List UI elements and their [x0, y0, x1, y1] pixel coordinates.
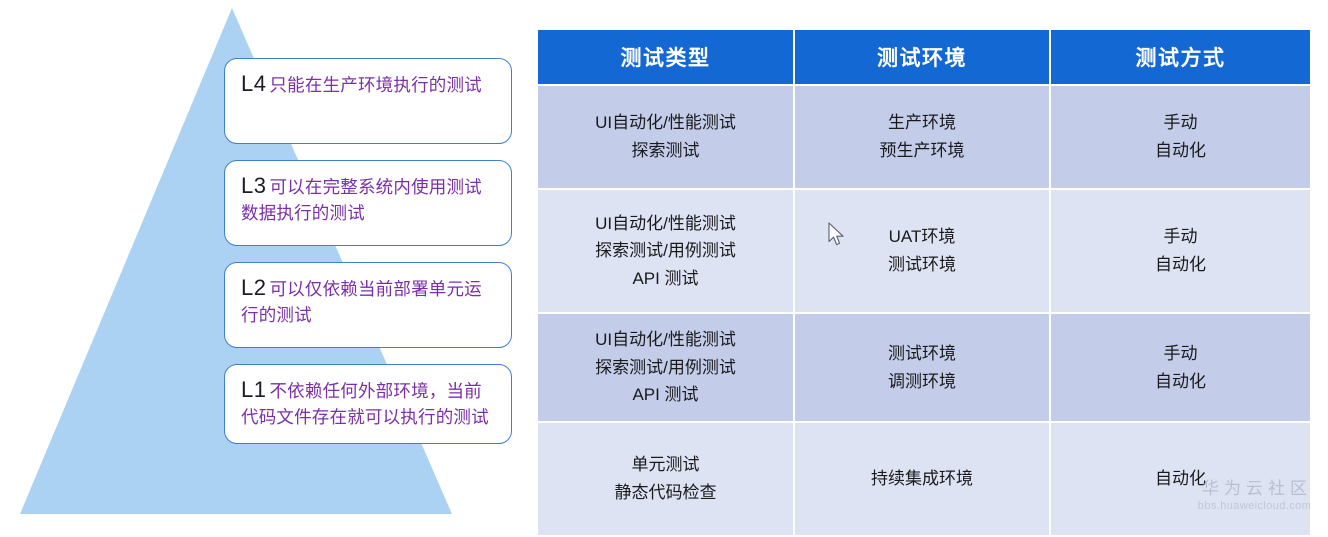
column-header-test-env[interactable]: 测试环境 — [795, 30, 1049, 84]
table-row[interactable]: UI自动化/性能测试 探索测试 生产环境 预生产环境 手动 自动化 — [538, 86, 1310, 188]
pyramid-level-l2-tag: L2 — [241, 275, 269, 300]
pyramid-level-l1-tag: L1 — [241, 377, 269, 402]
cell-line: 测试环境 — [799, 251, 1045, 279]
pyramid-level-l3[interactable]: L3可以在完整系统内使用测试数据执行的测试 — [224, 160, 512, 246]
column-header-test-method[interactable]: 测试方式 — [1051, 30, 1310, 84]
pyramid-level-l4-desc: 只能在生产环境执行的测试 — [269, 75, 481, 95]
cell-line: 手动 — [1055, 340, 1306, 368]
cell-line: 手动 — [1055, 109, 1306, 137]
cell-line: 自动化 — [1055, 137, 1306, 165]
cell-line: 预生产环境 — [799, 137, 1045, 165]
cell-line: 生产环境 — [799, 109, 1045, 137]
pyramid-level-l3-tag: L3 — [241, 173, 269, 198]
table-row[interactable]: UI自动化/性能测试 探索测试/用例测试 API 测试 UAT环境 测试环境 手… — [538, 190, 1310, 312]
pyramid-level-l4[interactable]: L4只能在生产环境执行的测试 — [224, 58, 512, 144]
table-row[interactable]: UI自动化/性能测试 探索测试/用例测试 API 测试 测试环境 调测环境 手动… — [538, 314, 1310, 421]
cell-line: API 测试 — [542, 381, 789, 409]
cell-test-env: 生产环境 预生产环境 — [795, 86, 1049, 188]
cell-line: 探索测试/用例测试 — [542, 237, 789, 265]
cell-line: UAT环境 — [799, 223, 1045, 251]
cell-line: 探索测试/用例测试 — [542, 354, 789, 382]
cell-test-type: UI自动化/性能测试 探索测试 — [538, 86, 793, 188]
test-pyramid-panel: L4只能在生产环境执行的测试 L3可以在完整系统内使用测试数据执行的测试 L2可… — [0, 0, 520, 522]
table-header-row: 测试类型 测试环境 测试方式 — [538, 30, 1310, 84]
pyramid-level-l2[interactable]: L2可以仅依赖当前部署单元运行的测试 — [224, 262, 512, 348]
cell-test-method: 手动 自动化 — [1051, 190, 1310, 312]
cell-line: API 测试 — [542, 265, 789, 293]
cell-test-env: 测试环境 调测环境 — [795, 314, 1049, 421]
pyramid-level-l1[interactable]: L1不依赖任何外部环境，当前代码文件存在就可以执行的测试 — [224, 364, 512, 444]
cell-line: UI自动化/性能测试 — [542, 109, 789, 137]
cell-line: 自动化 — [1055, 368, 1306, 396]
cell-line: 单元测试 — [542, 451, 789, 479]
watermark-title: 华为云社区 — [1197, 474, 1312, 499]
table-row[interactable]: 单元测试 静态代码检查 持续集成环境 自动化 — [538, 423, 1310, 535]
cell-test-type: 单元测试 静态代码检查 — [538, 423, 793, 535]
cell-line: 测试环境 — [799, 340, 1045, 368]
pyramid-level-l3-desc: 可以在完整系统内使用测试数据执行的测试 — [241, 177, 482, 223]
cell-line: 自动化 — [1055, 251, 1306, 279]
cell-line: UI自动化/性能测试 — [542, 210, 789, 238]
pyramid-level-l4-tag: L4 — [241, 71, 269, 96]
cell-test-env: 持续集成环境 — [795, 423, 1049, 535]
cell-line: 持续集成环境 — [799, 465, 1045, 493]
cell-line: 调测环境 — [799, 368, 1045, 396]
test-matrix-table: 测试类型 测试环境 测试方式 UI自动化/性能测试 探索测试 生产环境 预生产环… — [536, 28, 1312, 537]
column-header-test-type[interactable]: 测试类型 — [538, 30, 793, 84]
pyramid-level-l1-desc: 不依赖任何外部环境，当前代码文件存在就可以执行的测试 — [241, 381, 489, 427]
cell-test-type: UI自动化/性能测试 探索测试/用例测试 API 测试 — [538, 314, 793, 421]
cell-line: 手动 — [1055, 223, 1306, 251]
watermark-url: bbs.huaweicloud.com — [1197, 500, 1312, 512]
cell-test-type: UI自动化/性能测试 探索测试/用例测试 API 测试 — [538, 190, 793, 312]
cell-test-method: 手动 自动化 — [1051, 86, 1310, 188]
cell-line: 探索测试 — [542, 137, 789, 165]
cell-line: 静态代码检查 — [542, 479, 789, 507]
watermark: 华为云社区 bbs.huaweicloud.com — [1197, 474, 1312, 512]
cell-test-method: 手动 自动化 — [1051, 314, 1310, 421]
cell-test-env: UAT环境 测试环境 — [795, 190, 1049, 312]
cell-line: UI自动化/性能测试 — [542, 326, 789, 354]
pyramid-level-l2-desc: 可以仅依赖当前部署单元运行的测试 — [241, 279, 482, 325]
